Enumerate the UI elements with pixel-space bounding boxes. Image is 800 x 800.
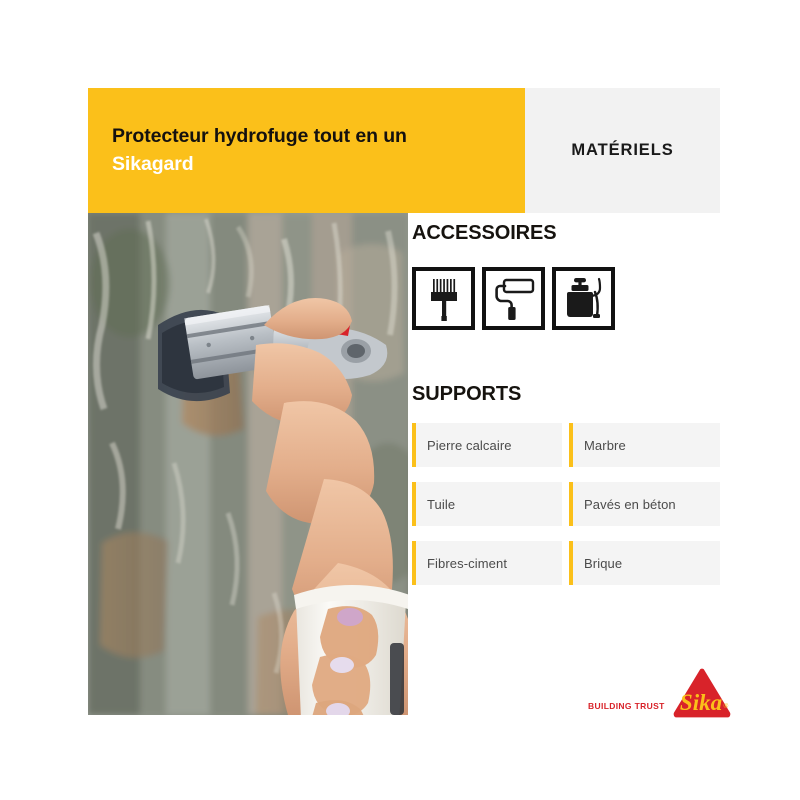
sprayer-icon xyxy=(562,276,606,322)
product-title: Protecteur hydrofuge tout en un xyxy=(112,123,525,151)
table-row: Tuile Pavés en béton xyxy=(412,482,722,526)
materials-heading: MATÉRIELS xyxy=(571,141,673,160)
paint-brush-icon xyxy=(423,276,465,322)
right-column: ACCESSOIRES xyxy=(412,222,722,585)
product-brand-name: Sikagard xyxy=(112,151,525,179)
logo-tagline: BUILDING TRUST xyxy=(588,701,665,711)
poster-root: Protecteur hydrofuge tout en un Sikagard… xyxy=(0,0,800,800)
supports-heading: SUPPORTS xyxy=(412,383,722,406)
support-cell[interactable]: Pierre calcaire xyxy=(412,423,562,467)
accessories-heading: ACCESSOIRES xyxy=(412,222,722,245)
paint-roller-icon xyxy=(492,276,536,322)
title-block: Protecteur hydrofuge tout en un Sikagard xyxy=(88,88,525,213)
svg-text:®: ® xyxy=(723,702,728,710)
accessories-icon-row xyxy=(412,267,722,330)
sika-triangle-icon: Sika ® xyxy=(671,666,733,720)
support-cell[interactable]: Pavés en béton xyxy=(569,482,720,526)
product-photo xyxy=(88,213,408,715)
sika-logo: BUILDING TRUST Sika ® xyxy=(588,666,722,720)
support-cell[interactable]: Tuile xyxy=(412,482,562,526)
accessory-item-roller[interactable] xyxy=(482,267,545,330)
svg-text:Sika: Sika xyxy=(680,690,722,715)
accessory-item-sprayer[interactable] xyxy=(552,267,615,330)
table-row: Pierre calcaire Marbre xyxy=(412,423,722,467)
header-band: Protecteur hydrofuge tout en un Sikagard… xyxy=(88,88,720,213)
accessory-item-brush[interactable] xyxy=(412,267,475,330)
support-cell[interactable]: Brique xyxy=(569,541,720,585)
support-cell[interactable]: Fibres-ciment xyxy=(412,541,562,585)
support-cell[interactable]: Marbre xyxy=(569,423,720,467)
table-row: Fibres-ciment Brique xyxy=(412,541,722,585)
materials-panel: MATÉRIELS xyxy=(525,88,720,213)
supports-table: Pierre calcaire Marbre Tuile Pavés en bé… xyxy=(412,423,722,585)
